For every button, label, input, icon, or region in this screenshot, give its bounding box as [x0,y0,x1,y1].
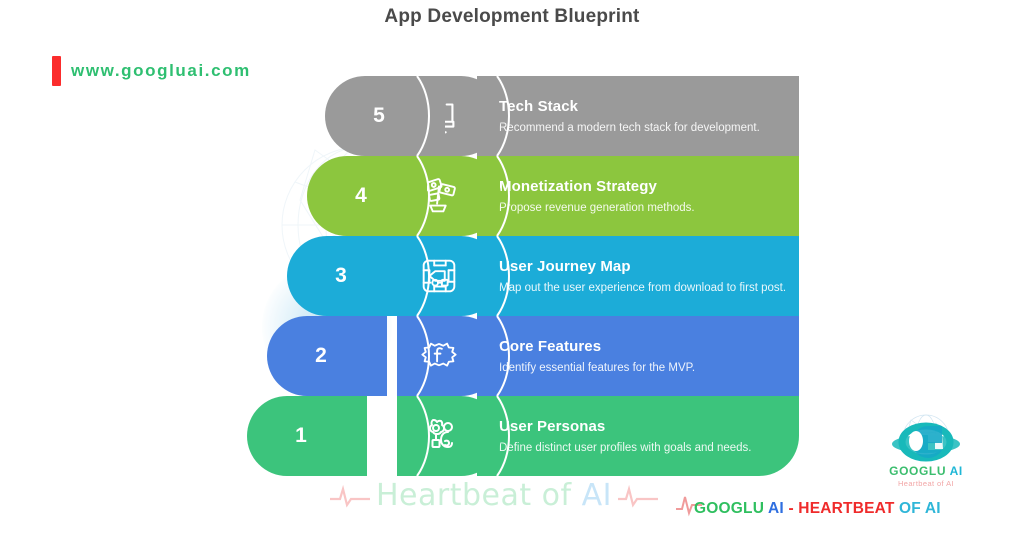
step-description: Propose revenue generation methods. [499,201,789,215]
step-number-segment: 1 [247,396,367,476]
brand-part-of-ai: OF AI [895,500,941,517]
step-number-segment: 4 [307,156,427,236]
step-text-segment: Core Features Identify essential feature… [477,316,799,396]
step-icon-segment [397,316,501,396]
step-heading: Monetization Strategy [499,178,799,196]
infographic-canvas: App Development Blueprint www.googluai.c… [0,0,1024,536]
step-row[interactable]: Core Features Identify essential feature… [267,316,777,396]
step-description: Identify essential features for the MVP. [499,361,789,375]
brand-part-ai: AI [768,500,784,517]
step-heading: User Personas [499,418,799,436]
brand-part-googlu: GOOGLU [694,500,768,517]
step-icon-segment [397,236,501,316]
step-number: 5 [373,104,385,128]
logo-name-part2: AI [946,464,963,478]
step-text-segment: User Personas Define distinct user profi… [477,396,799,476]
step-row[interactable]: Monetization Strategy Propose revenue ge… [307,156,777,236]
step-heading: User Journey Map [499,258,799,276]
step-row[interactable]: Tech Stack Recommend a modern tech stack… [325,76,777,156]
persona-flower-icon [415,412,463,460]
step-number: 1 [295,424,307,448]
gear-f-icon [416,333,462,379]
step-text-segment: Tech Stack Recommend a modern tech stack… [477,76,799,156]
step-heading: Tech Stack [499,98,799,116]
step-description: Recommend a modern tech stack for develo… [499,121,789,135]
logo-mark [866,414,986,466]
step-heading: Core Features [499,338,799,356]
step-number-segment: 2 [267,316,387,396]
step-number: 3 [335,264,347,288]
logo-tagline: Heartbeat of AI [866,479,986,488]
brand-part-heartbeat: - HEARTBEAT [784,500,895,517]
step-number-segment: 5 [325,76,445,156]
step-text-segment: Monetization Strategy Propose revenue ge… [477,156,799,236]
googlu-logo: GOOGLU AI Heartbeat of AI [866,414,986,492]
journey-map-icon [416,253,462,299]
brand-line: GOOGLU AI - HEARTBEAT OF AI [694,500,941,518]
step-number: 4 [355,184,367,208]
step-icon-segment [397,396,501,476]
step-text-segment: User Journey Map Map out the user experi… [477,236,799,316]
step-number-segment: 3 [287,236,407,316]
step-row[interactable]: User Journey Map Map out the user experi… [287,236,777,316]
step-description: Map out the user experience from downloa… [499,281,789,295]
logo-name: GOOGLU AI [866,464,986,478]
globe-g-logo-icon [866,414,986,466]
step-row[interactable]: User Personas Define distinct user profi… [247,396,777,476]
step-description: Define distinct user profiles with goals… [499,441,789,455]
step-number: 2 [315,344,327,368]
logo-name-part1: GOOGLU [889,464,946,478]
